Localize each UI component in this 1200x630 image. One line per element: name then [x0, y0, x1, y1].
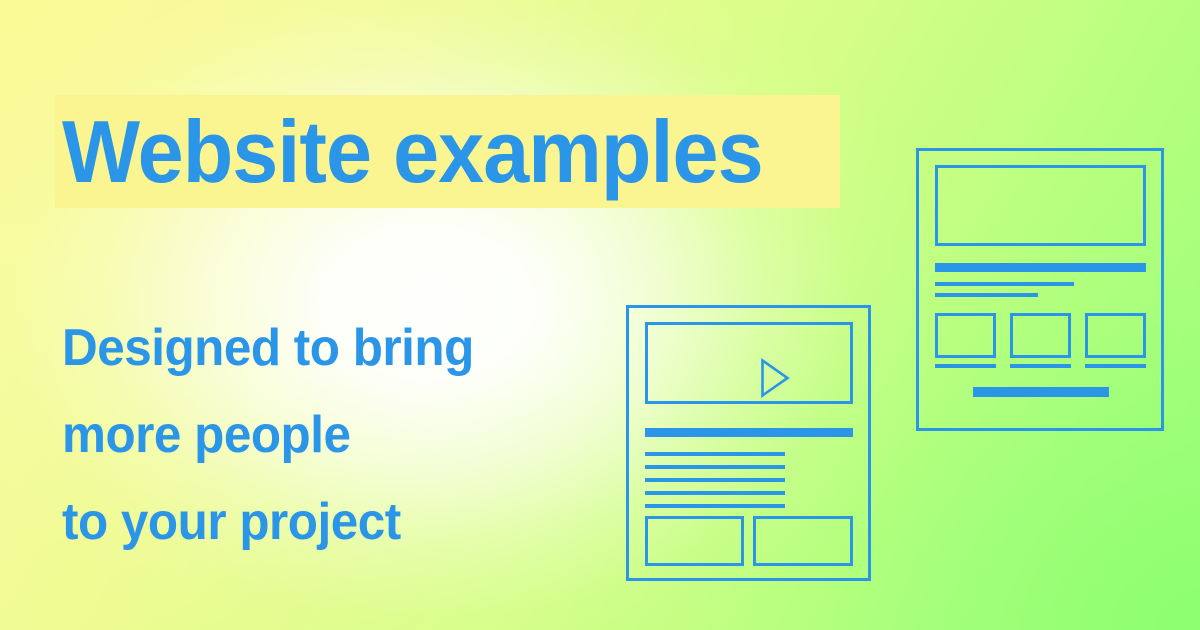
- thumbnail-card: [1010, 313, 1071, 358]
- play-triangle-icon: [760, 358, 790, 398]
- content-card: [645, 516, 744, 566]
- subheadline: Designed to bring more people to your pr…: [62, 305, 594, 566]
- subheadline-line-2: more people: [62, 392, 594, 479]
- subheadline-line-1: Designed to bring: [62, 305, 594, 392]
- text-line: [645, 504, 785, 508]
- video-placeholder: [645, 322, 853, 404]
- thumbnail-card: [935, 313, 996, 358]
- heading-placeholder-bar: [645, 428, 853, 437]
- text-line: [645, 491, 785, 495]
- heading-placeholder-bar: [935, 263, 1146, 272]
- text-line: [935, 282, 1074, 286]
- text-line: [645, 452, 785, 456]
- landing-page-mockup: [916, 148, 1164, 431]
- cta-button-placeholder: [973, 387, 1109, 397]
- thumbnail-caption-line: [935, 364, 996, 368]
- poster-canvas: Website examples Designed to bring more …: [0, 0, 1200, 630]
- thumbnail-caption-line: [1085, 364, 1146, 368]
- thumbnail-card: [1085, 313, 1146, 358]
- subheadline-line-3: to your project: [62, 479, 594, 566]
- content-card: [753, 516, 853, 566]
- hero-image-placeholder: [935, 165, 1146, 246]
- text-line: [645, 478, 785, 482]
- video-article-page-mockup: [626, 305, 871, 581]
- text-line: [935, 293, 1038, 297]
- thumbnail-caption-line: [1010, 364, 1071, 368]
- text-line: [645, 465, 785, 469]
- page-title: Website examples: [62, 93, 814, 211]
